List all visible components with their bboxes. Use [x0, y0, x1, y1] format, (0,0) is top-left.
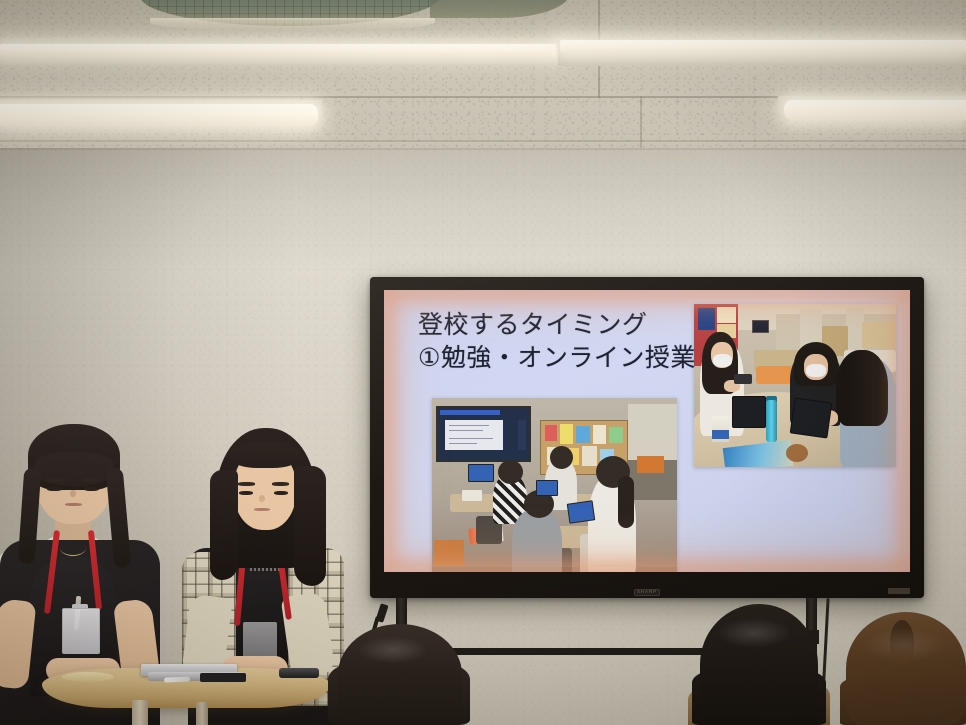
- presenter-right-nose: [259, 495, 265, 502]
- ceiling-tile-seam: [0, 140, 966, 142]
- presenter-left-eyebrow: [46, 478, 64, 482]
- ceiling-texture: [0, 0, 966, 152]
- presenter-left-necklace: [60, 540, 86, 556]
- hair-highlight: [862, 628, 946, 662]
- presenter-right-hair-side: [210, 470, 238, 580]
- presenter-left-id-badge: [62, 608, 100, 654]
- presenter-left-eye: [47, 487, 62, 491]
- ceiling-light-tube: [0, 104, 318, 126]
- wall-display-panel[interactable]: 登校するタイミング ①勉強・オンライン授業 SHARP: [370, 277, 924, 598]
- display-screen[interactable]: 登校するタイミング ①勉強・オンライン授業: [384, 290, 910, 572]
- presenter-right-eye: [274, 491, 288, 495]
- presenter-right-bangs: [230, 442, 300, 468]
- presenter-right-eyebrow: [272, 482, 289, 486]
- hair-highlight: [716, 618, 792, 648]
- presenter-right-hair-side: [294, 466, 326, 586]
- ceiling-light-tube: [784, 100, 966, 120]
- ceiling-light-tube: [560, 40, 966, 53]
- table-leg: [132, 700, 148, 725]
- table-leg: [196, 702, 208, 725]
- ceiling: [0, 0, 966, 152]
- hair-highlight: [358, 636, 428, 664]
- presenter-left-mouth: [65, 503, 82, 506]
- display-brand-logo: SHARP: [637, 589, 657, 594]
- ceiling-light-tube: [0, 44, 556, 56]
- presenter-right-eyebrow: [238, 482, 255, 486]
- dark-device[interactable]: [200, 673, 246, 682]
- presenter-right-mouth: [254, 508, 270, 511]
- display-model-label: [380, 589, 381, 593]
- ceiling-tile-seam: [640, 96, 642, 148]
- table-wooden-item: [62, 672, 114, 682]
- presenter-left-eyebrow: [82, 478, 100, 482]
- presenter-left-eye: [84, 487, 99, 491]
- presentation-slide: 登校するタイミング ①勉強・オンライン授業: [384, 290, 910, 572]
- smartphone-on-table[interactable]: [279, 668, 319, 678]
- slide-warm-glow: [384, 290, 910, 572]
- presenter-left-nose: [70, 490, 76, 497]
- presentation-room-photo: 登校するタイミング ①勉強・オンライン授業 SHARP: [0, 0, 966, 725]
- presenter-right-eye: [239, 491, 253, 495]
- display-side-label: [888, 588, 910, 594]
